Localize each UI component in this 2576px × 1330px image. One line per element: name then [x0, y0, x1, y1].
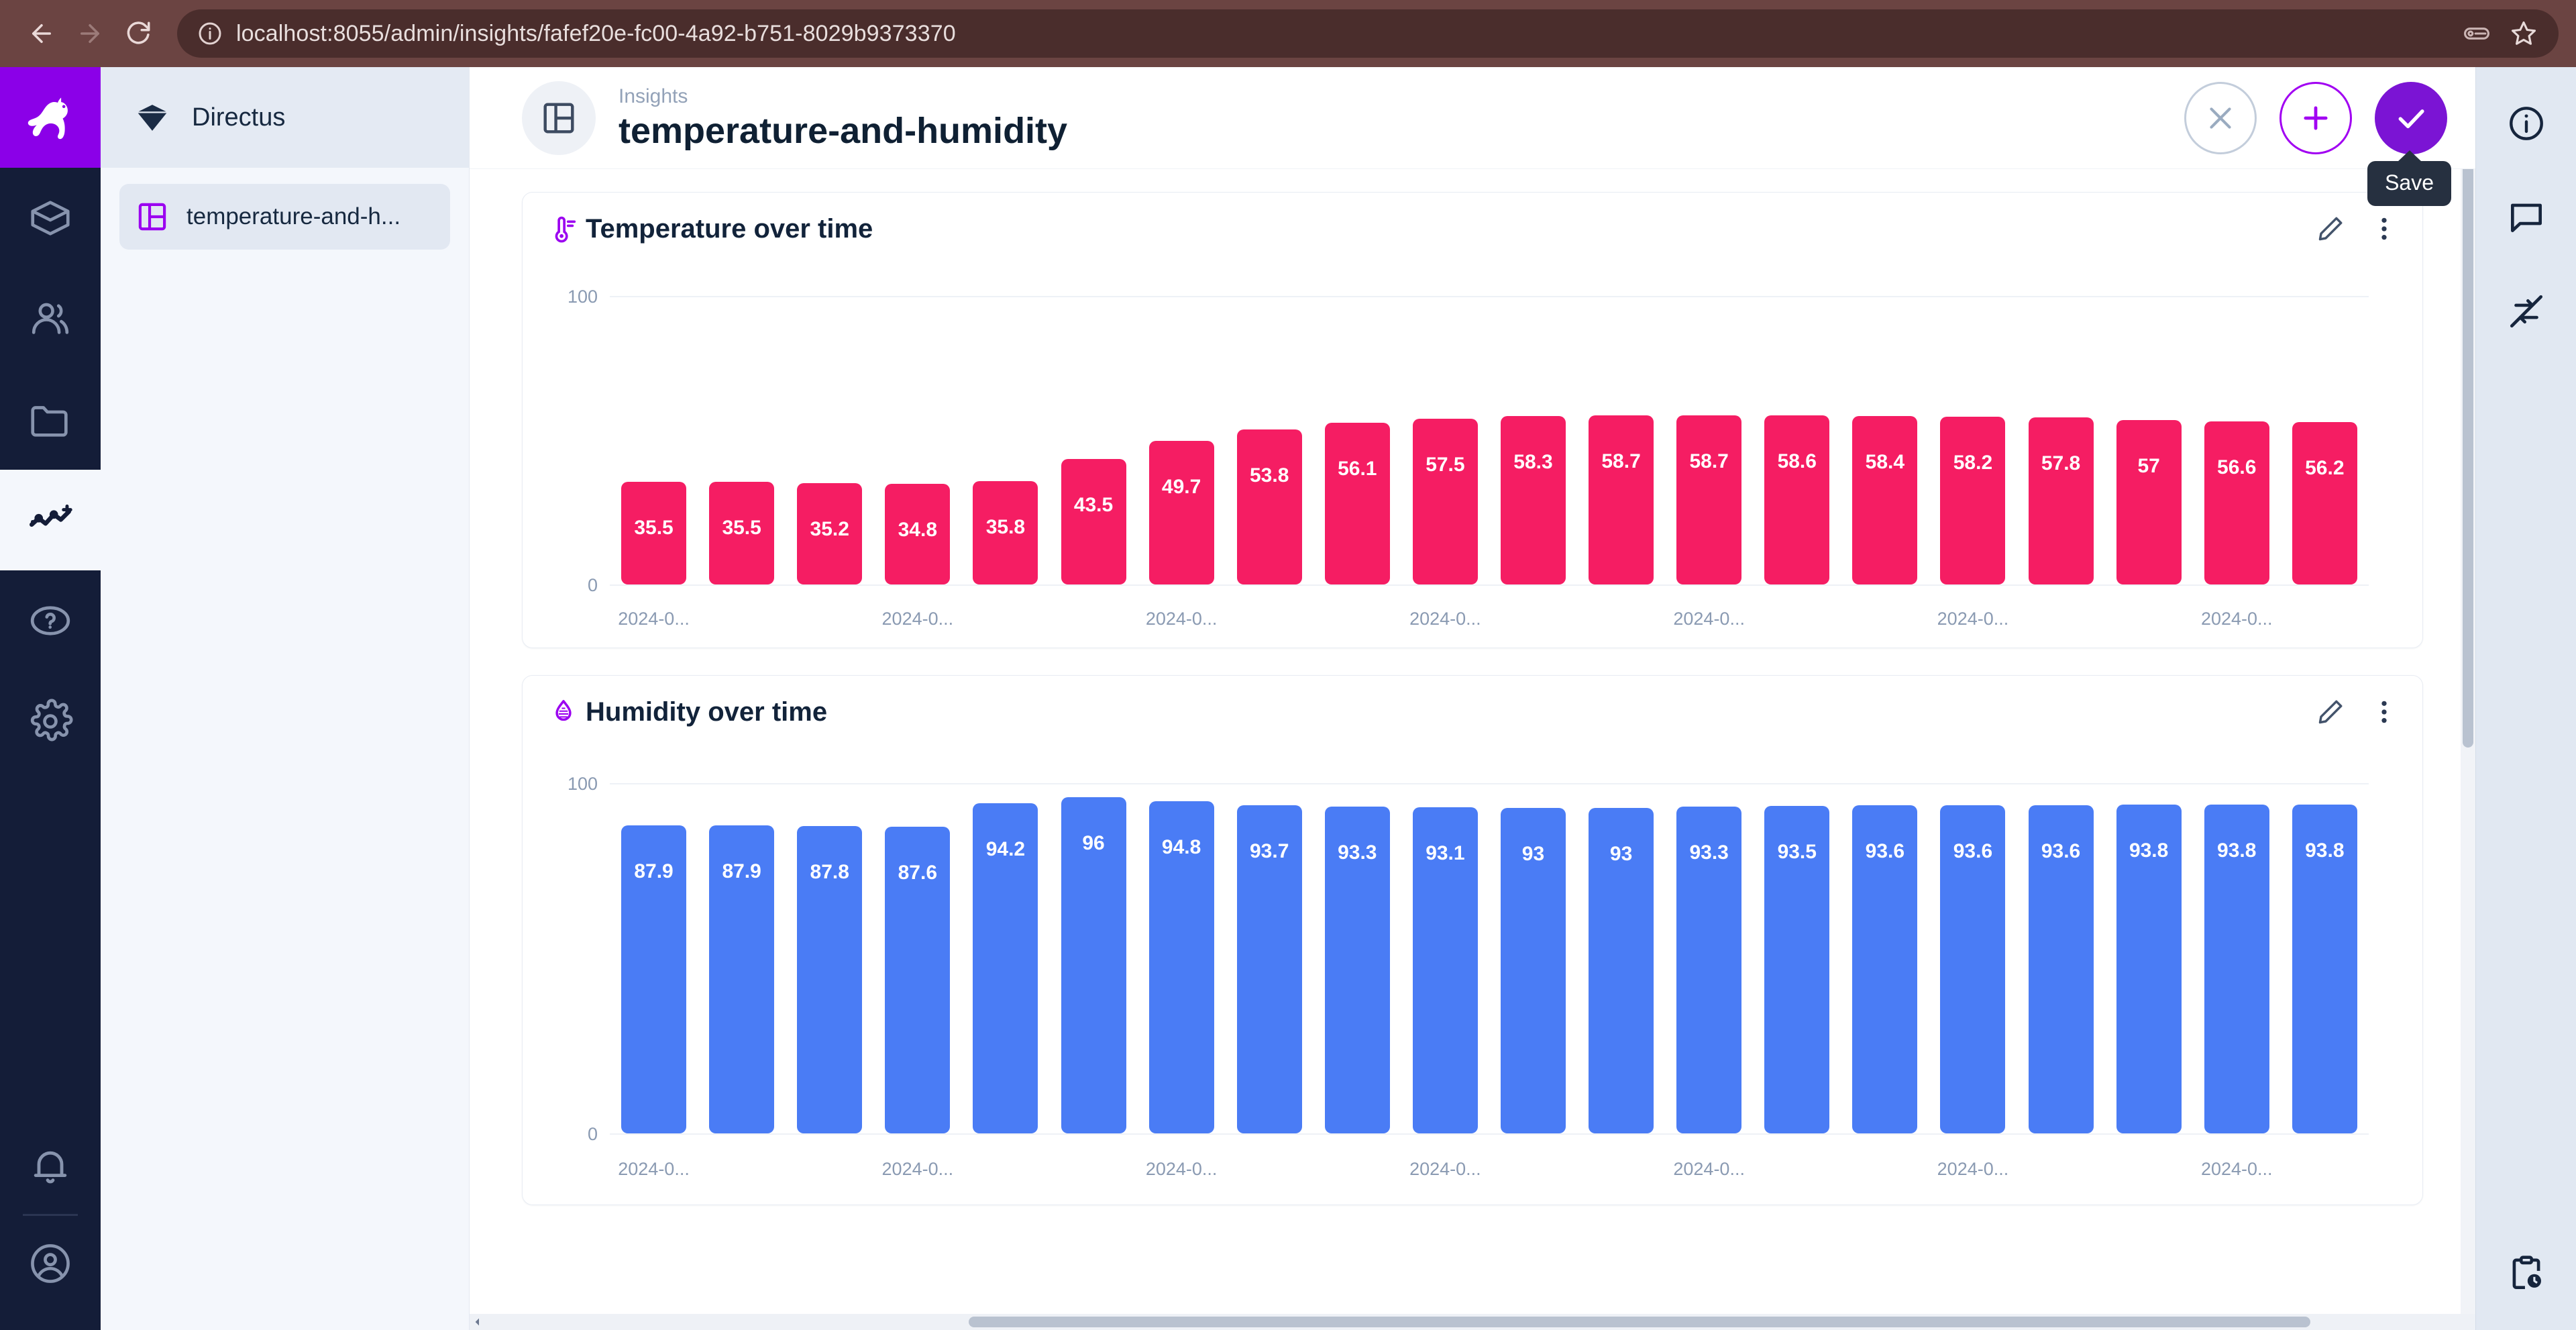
bar-value-label: 35.8: [973, 516, 1038, 539]
bar-value-label: 93.8: [2204, 839, 2269, 862]
bar-column[interactable]: 93: [1577, 783, 1665, 1133]
bell-icon: [28, 1143, 73, 1189]
panel-title: Humidity over time: [586, 697, 2315, 727]
x-axis: 2024-0... 2024-0... 2024-0... 2024-0... …: [610, 1159, 2369, 1180]
comment-icon: [2506, 197, 2547, 238]
bar[interactable]: 93.5: [1764, 806, 1829, 1133]
x-tick-label: 2024-0...: [1929, 609, 2017, 629]
scroll-left-arrow[interactable]: [470, 1314, 486, 1330]
bar[interactable]: 34.8: [885, 484, 950, 584]
dashboard-panel-icon: [136, 200, 169, 234]
bar-column[interactable]: 58.4: [1841, 296, 1929, 584]
y-tick-top: 100: [545, 287, 598, 307]
x-tick-label: [2281, 1159, 2369, 1180]
bar-column[interactable]: 93.7: [1226, 783, 1313, 1133]
bar-value-label: 43.5: [1061, 494, 1126, 517]
x-tick-label: [786, 609, 873, 629]
insights-chart-icon: [25, 495, 75, 545]
bar-value-label: 87.9: [709, 860, 774, 883]
activity-log-button[interactable]: [2498, 1245, 2555, 1302]
app-shell: Directus temperature-and-h...: [0, 67, 2576, 1330]
clipboard-clock-icon: [2506, 1253, 2547, 1294]
page-icon: [522, 81, 596, 155]
bar-value-label: 57.8: [2029, 452, 2094, 475]
x-axis: 2024-0... 2024-0... 2024-0... 2024-0... …: [610, 609, 2369, 629]
navigation-sidebar: Directus temperature-and-h...: [101, 67, 470, 1330]
bar-column[interactable]: 57.8: [2017, 296, 2105, 584]
x-tick-label: 2024-0...: [1665, 1159, 1753, 1180]
sidebar-item-users[interactable]: [0, 268, 101, 369]
bar-value-label: 93: [1501, 843, 1566, 866]
x-tick-label: [1577, 609, 1665, 629]
bar-value-label: 93.3: [1676, 841, 1741, 864]
x-tick-label: [1226, 1159, 1313, 1180]
back-arrow-icon: [28, 19, 56, 48]
forward-arrow-icon: [76, 19, 104, 48]
info-circle-icon: [2506, 103, 2547, 144]
x-tick-label: 2024-0...: [1138, 609, 1226, 629]
x-tick-label: [1753, 609, 1841, 629]
bar-value-label: 96: [1061, 832, 1126, 855]
bar-value-label: 58.7: [1589, 450, 1654, 473]
bar-column[interactable]: 93.8: [2105, 783, 2193, 1133]
x-tick-label: [2017, 609, 2105, 629]
bar-column[interactable]: 93.8: [2193, 783, 2281, 1133]
content-vertical-scrollbar[interactable]: [2461, 67, 2475, 1330]
bar[interactable]: 87.8: [797, 826, 862, 1133]
sidebar-item-docs[interactable]: [0, 570, 101, 671]
bar[interactable]: 58.7: [1676, 415, 1741, 584]
check-icon: [2393, 100, 2429, 136]
bar-value-label: 87.6: [885, 862, 950, 884]
x-tick-label: 2024-0...: [873, 609, 961, 629]
gridline-bottom: [610, 1133, 2369, 1135]
bar-value-label: 93.8: [2292, 839, 2357, 862]
bar-column[interactable]: 93.3: [1665, 783, 1753, 1133]
bar[interactable]: 93.1: [1413, 807, 1478, 1133]
bar-column[interactable]: 57: [2105, 296, 2193, 584]
bar-value-label: 94.8: [1149, 836, 1214, 859]
x-tick-label: [1489, 1159, 1577, 1180]
bar-column[interactable]: 35.2: [786, 296, 873, 584]
address-bar[interactable]: localhost:8055/admin/insights/fafef20e-f…: [177, 9, 2559, 58]
comments-button[interactable]: [2498, 189, 2555, 246]
bar-column[interactable]: 35.5: [610, 296, 698, 584]
bar[interactable]: 93.6: [1940, 805, 2005, 1133]
bar-column[interactable]: 87.9: [610, 783, 698, 1133]
bar-value-label: 93.6: [2029, 840, 2094, 863]
header-actions: Save: [2184, 82, 2447, 154]
bar-column[interactable]: 87.9: [698, 783, 786, 1133]
plus-icon: [2298, 101, 2333, 136]
bar-column[interactable]: 56.6: [2193, 296, 2281, 584]
bar-column[interactable]: 58.2: [1929, 296, 2017, 584]
bar-column[interactable]: 35.8: [961, 296, 1049, 584]
page-horizontal-scrollbar[interactable]: [470, 1314, 2475, 1330]
bar[interactable]: 94.8: [1149, 801, 1214, 1133]
bar-column[interactable]: 53.8: [1226, 296, 1313, 584]
bar-value-label: 35.5: [621, 517, 686, 540]
insights-diamond-icon: [133, 98, 172, 137]
x-tick-label: [698, 1159, 786, 1180]
bar[interactable]: 58.2: [1940, 417, 2005, 584]
bar-column[interactable]: 94.8: [1138, 783, 1226, 1133]
bar[interactable]: 93: [1589, 808, 1654, 1133]
bar-value-label: 57.5: [1413, 454, 1478, 476]
sidebar-item-label: temperature-and-h...: [186, 203, 400, 230]
bar[interactable]: 57.8: [2029, 417, 2094, 584]
save-tooltip: Save: [2367, 161, 2451, 206]
chart-humidity: 100 0 87.987.987.887.694.29694.893.793.3…: [523, 748, 2422, 1191]
bar[interactable]: 49.7: [1149, 441, 1214, 584]
bar[interactable]: 43.5: [1061, 459, 1126, 584]
bar-column[interactable]: 93.6: [1929, 783, 2017, 1133]
chart-temperature: 100 0 35.535.535.234.835.843.549.753.856…: [523, 265, 2422, 641]
bar-value-label: 93.3: [1325, 841, 1390, 864]
bar-value-label: 53.8: [1237, 464, 1302, 487]
bar-value-label: 58.7: [1676, 450, 1741, 473]
bar[interactable]: 53.8: [1237, 429, 1302, 584]
gear-icon: [27, 698, 74, 745]
bar-column[interactable]: 57.5: [1401, 296, 1489, 584]
notifications-button[interactable]: [0, 1123, 101, 1210]
x-tick-label: [1313, 1159, 1401, 1180]
panel-tools: [2315, 213, 2400, 244]
url-text: localhost:8055/admin/insights/fafef20e-f…: [236, 21, 2462, 47]
scrollbar-thumb[interactable]: [2463, 76, 2473, 748]
bar-value-label: 57: [2116, 455, 2182, 478]
bar[interactable]: 87.9: [709, 825, 774, 1133]
bar[interactable]: 93.7: [1237, 805, 1302, 1133]
x-tick-label: 2024-0...: [610, 609, 698, 629]
sidebar-item-insights[interactable]: [0, 470, 101, 570]
bar-column[interactable]: 56.2: [2281, 296, 2369, 584]
users-icon: [27, 295, 74, 342]
add-panel-button[interactable]: [2279, 82, 2352, 154]
panel-header: Humidity over time: [523, 676, 2422, 748]
box-icon: [27, 195, 74, 242]
right-sidebar: [2475, 67, 2576, 1330]
bar-value-label: 34.8: [885, 519, 950, 542]
bar-value-label: 93.1: [1413, 842, 1478, 865]
bar-value-label: 58.6: [1764, 450, 1829, 473]
x-tick-label: [1841, 1159, 1929, 1180]
directus-logo[interactable]: [0, 67, 101, 168]
bar-column[interactable]: 96: [1049, 783, 1137, 1133]
panel-header: Temperature over time: [523, 193, 2422, 265]
bar[interactable]: 87.6: [885, 827, 950, 1133]
directus-rabbit-logo: [21, 89, 79, 146]
bar-value-label: 49.7: [1149, 476, 1214, 499]
bar-column[interactable]: 56.1: [1313, 296, 1401, 584]
bar-column[interactable]: 93: [1489, 783, 1577, 1133]
sync-disabled-icon: [2506, 291, 2547, 332]
browser-toolbar: localhost:8055/admin/insights/fafef20e-f…: [0, 0, 2576, 67]
bar[interactable]: 93.8: [2292, 805, 2357, 1133]
bar-value-label: 94.2: [973, 838, 1038, 861]
bar-value-label: 87.9: [621, 860, 686, 883]
site-info-icon[interactable]: [195, 18, 225, 49]
x-tick-label: [2281, 609, 2369, 629]
x-tick-label: 2024-0...: [1401, 1159, 1489, 1180]
pencil-icon[interactable]: [2315, 697, 2346, 727]
bar-value-label: 58.2: [1940, 452, 2005, 474]
bar-column[interactable]: 49.7: [1138, 296, 1226, 584]
bar[interactable]: 94.2: [973, 803, 1038, 1133]
x-tick-label: 2024-0...: [873, 1159, 961, 1180]
bar-value-label: 93.7: [1237, 840, 1302, 863]
page-header: Insights temperature-and-humidity: [470, 67, 2475, 169]
x-tick-label: [2017, 1159, 2105, 1180]
rail-divider: [23, 1214, 78, 1216]
bar[interactable]: 93.8: [2116, 805, 2182, 1133]
x-tick-label: [1049, 609, 1137, 629]
panel-tools: [2315, 697, 2400, 727]
x-tick-label: 2024-0...: [2193, 609, 2281, 629]
account-circle-icon: [27, 1240, 74, 1287]
bar-group: 87.987.987.887.694.29694.893.793.393.193…: [610, 783, 2369, 1133]
info-button[interactable]: [2498, 95, 2555, 152]
x-tick-label: [1753, 1159, 1841, 1180]
x-tick-label: [1049, 1159, 1137, 1180]
bar[interactable]: 96: [1061, 797, 1126, 1133]
x-tick-label: [786, 1159, 873, 1180]
bar[interactable]: 93.6: [1852, 805, 1917, 1133]
more-vertical-icon[interactable]: [2369, 213, 2400, 244]
bar[interactable]: 93.3: [1676, 807, 1741, 1133]
bar[interactable]: 56.2: [2292, 422, 2357, 584]
bar-group: 35.535.535.234.835.843.549.753.856.157.5…: [610, 296, 2369, 584]
bar-column[interactable]: 93.6: [2017, 783, 2105, 1133]
bar-value-label: 93.8: [2116, 839, 2182, 862]
module-rail: [0, 67, 101, 1330]
panel-title: Temperature over time: [586, 214, 2315, 244]
water-drop-icon: [545, 697, 582, 727]
bar-column[interactable]: 58.6: [1753, 296, 1841, 584]
gridline-bottom: [610, 584, 2369, 586]
bar[interactable]: 35.5: [621, 482, 686, 584]
bar-value-label: 93.6: [1940, 840, 2005, 863]
bar-column[interactable]: 93.6: [1841, 783, 1929, 1133]
bar-column[interactable]: 43.5: [1049, 296, 1137, 584]
bar-column[interactable]: 34.8: [873, 296, 961, 584]
bar-value-label: 58.4: [1852, 451, 1917, 474]
chart-plot-area: 100 0 35.535.535.234.835.843.549.753.856…: [545, 265, 2400, 641]
x-tick-label: 2024-0...: [610, 1159, 698, 1180]
right-sidebar-bottom: [2498, 1245, 2555, 1330]
y-tick-bottom: 0: [545, 1124, 598, 1145]
sidebar-item-temperature-and-humidity[interactable]: temperature-and-h...: [119, 184, 450, 250]
thermometer-icon: [545, 213, 582, 244]
x-tick-label: 2024-0...: [1401, 609, 1489, 629]
help-circle-icon: [27, 597, 74, 644]
bookmark-star-icon[interactable]: [2509, 19, 2538, 48]
bar-value-label: 35.5: [709, 517, 774, 540]
password-key-icon[interactable]: [2462, 19, 2491, 48]
x-tick-label: [1489, 609, 1577, 629]
sidebar-item-content[interactable]: [0, 168, 101, 268]
close-x-icon: [2204, 101, 2237, 135]
scrollbar-thumb[interactable]: [969, 1317, 2310, 1327]
bar-value-label: 56.1: [1325, 458, 1390, 480]
account-button[interactable]: [0, 1220, 101, 1307]
breadcrumb[interactable]: Insights: [619, 84, 2184, 109]
bar[interactable]: 58.4: [1852, 416, 1917, 584]
bar[interactable]: 57: [2116, 420, 2182, 584]
reload-button[interactable]: [114, 9, 162, 58]
project-header[interactable]: Directus: [101, 67, 469, 168]
bar[interactable]: 58.7: [1589, 415, 1654, 584]
x-tick-label: [961, 1159, 1049, 1180]
bar-column[interactable]: 58.7: [1665, 296, 1753, 584]
folder-icon: [27, 396, 74, 443]
x-tick-label: [2105, 1159, 2193, 1180]
x-tick-label: 2024-0...: [2193, 1159, 2281, 1180]
bar[interactable]: 35.2: [797, 483, 862, 584]
bar-value-label: 93: [1589, 843, 1654, 866]
x-tick-label: [698, 609, 786, 629]
dashboard-list: temperature-and-h...: [101, 168, 469, 250]
more-vertical-icon[interactable]: [2369, 697, 2400, 727]
bar[interactable]: 57.5: [1413, 419, 1478, 584]
project-name: Directus: [192, 103, 285, 132]
dashboard-panels: Temperature over time 100 0: [470, 169, 2475, 1330]
bar-value-label: 87.8: [797, 861, 862, 884]
panel-temperature[interactable]: Temperature over time 100 0: [522, 192, 2423, 648]
bar-column[interactable]: 93.3: [1313, 783, 1401, 1133]
bar-value-label: 35.2: [797, 518, 862, 541]
bar-column[interactable]: 35.5: [698, 296, 786, 584]
pencil-icon[interactable]: [2315, 213, 2346, 244]
bar[interactable]: 93.8: [2204, 805, 2269, 1133]
bar-value-label: 56.2: [2292, 457, 2357, 480]
y-tick-bottom: 0: [545, 575, 598, 596]
x-tick-label: 2024-0...: [1138, 1159, 1226, 1180]
sidebar-item-files[interactable]: [0, 369, 101, 470]
bar-column[interactable]: 87.8: [786, 783, 873, 1133]
bar[interactable]: 58.3: [1501, 416, 1566, 584]
x-tick-label: [1313, 609, 1401, 629]
rail-bottom-group: [0, 1123, 101, 1330]
x-tick-label: [1841, 609, 1929, 629]
bar[interactable]: 56.1: [1325, 423, 1390, 584]
dashboard-panel-icon: [540, 99, 578, 137]
x-tick-label: 2024-0...: [1665, 609, 1753, 629]
sidebar-item-settings[interactable]: [0, 671, 101, 772]
x-tick-label: 2024-0...: [1929, 1159, 2017, 1180]
cancel-button[interactable]: [2184, 82, 2257, 154]
bar-value-label: 93.6: [1852, 840, 1917, 863]
back-button[interactable]: [17, 9, 66, 58]
x-tick-label: [2105, 609, 2193, 629]
bar[interactable]: 93.3: [1325, 807, 1390, 1133]
bar-column[interactable]: 93.1: [1401, 783, 1489, 1133]
panel-humidity[interactable]: Humidity over time 100 0: [522, 675, 2423, 1205]
bar[interactable]: 56.6: [2204, 421, 2269, 584]
bar-value-label: 58.3: [1501, 451, 1566, 474]
x-tick-label: [1577, 1159, 1665, 1180]
bar[interactable]: 87.9: [621, 825, 686, 1133]
save-button[interactable]: [2375, 82, 2447, 154]
auto-refresh-button[interactable]: [2498, 283, 2555, 340]
bar-column[interactable]: 58.7: [1577, 296, 1665, 584]
bar-value-label: 56.6: [2204, 456, 2269, 479]
bar-column[interactable]: 93.5: [1753, 783, 1841, 1133]
forward-button[interactable]: [66, 9, 114, 58]
bar[interactable]: 93: [1501, 808, 1566, 1133]
chart-plot-area: 100 0 87.987.987.887.694.29694.893.793.3…: [545, 748, 2400, 1191]
x-tick-label: [1226, 609, 1313, 629]
bar-column[interactable]: 94.2: [961, 783, 1049, 1133]
x-tick-label: [961, 609, 1049, 629]
page-title-group: Insights temperature-and-humidity: [619, 84, 2184, 152]
bar[interactable]: 35.5: [709, 482, 774, 584]
bar[interactable]: 35.8: [973, 481, 1038, 584]
bar-column[interactable]: 58.3: [1489, 296, 1577, 584]
bar-column[interactable]: 93.8: [2281, 783, 2369, 1133]
bar[interactable]: 93.6: [2029, 805, 2094, 1133]
page-title: temperature-and-humidity: [619, 110, 2184, 152]
bar-value-label: 93.5: [1764, 841, 1829, 864]
bar[interactable]: 58.6: [1764, 415, 1829, 584]
reload-icon: [124, 19, 152, 48]
bar-column[interactable]: 87.6: [873, 783, 961, 1133]
main-content: Insights temperature-and-humidity: [470, 67, 2475, 1330]
y-tick-top: 100: [545, 774, 598, 795]
